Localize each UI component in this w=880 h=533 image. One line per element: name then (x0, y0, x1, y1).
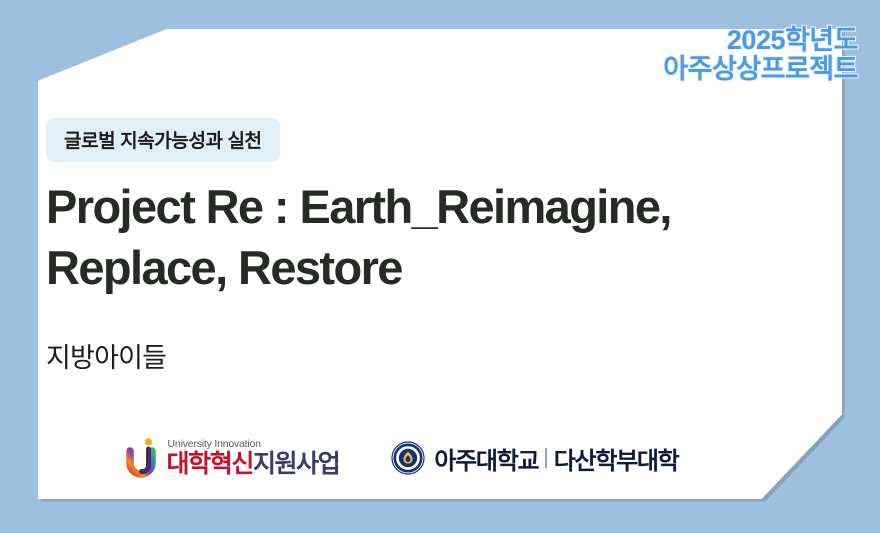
poster-canvas: 2025학년도 아주상상프로젝트 글로벌 지속가능성과 실천 Project R… (0, 0, 880, 533)
ui-logo-korean-primary: 대학혁신 (167, 450, 253, 478)
ajou-logo-korean-secondary: 다산학부대학 (554, 441, 679, 476)
team-name: 지방아이들 (46, 336, 166, 375)
page-title-line-2: Replace, Restore (46, 237, 776, 298)
ajou-university-logo: 아주대학교 다산학부대학 (391, 441, 678, 476)
program-label-name: 아주상상프로젝트 (663, 55, 858, 84)
footer-logo-row: University Innovation 대학혁신지원사업 아주대학교 (0, 438, 804, 478)
ui-logo-korean: 대학혁신지원사업 (167, 452, 340, 477)
university-innovation-logo: University Innovation 대학혁신지원사업 (126, 438, 340, 478)
category-badge-label: 글로벌 지속가능성과 실천 (64, 131, 262, 152)
ui-logo-korean-secondary: 지원사업 (253, 450, 339, 478)
ajou-logo-divider (545, 448, 547, 468)
program-label: 2025학년도 아주상상프로젝트 (663, 26, 858, 84)
program-label-year: 2025학년도 (663, 26, 858, 55)
ajou-seal-icon (391, 441, 425, 475)
ajou-logo-korean-primary: 아주대학교 (434, 441, 538, 476)
ui-logo-english: University Innovation (168, 439, 340, 450)
ajou-logo-text: 아주대학교 다산학부대학 (434, 441, 678, 476)
page-title: Project Re : Earth_Reimagine, Replace, R… (46, 176, 776, 298)
category-badge: 글로벌 지속가능성과 실천 (46, 118, 280, 162)
page-title-line-1: Project Re : Earth_Reimagine, (46, 176, 776, 237)
ui-logo-text: University Innovation 대학혁신지원사업 (167, 439, 340, 477)
ui-swoosh-icon (126, 438, 160, 478)
